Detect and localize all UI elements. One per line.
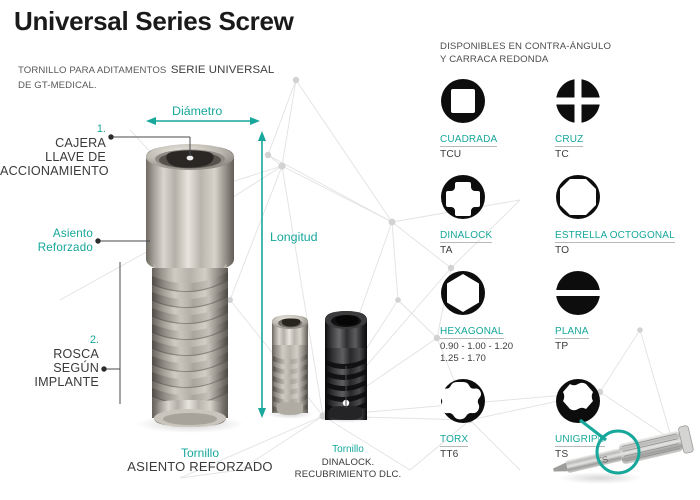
callout-cajera-line3: ACCIONAMIENTO	[0, 164, 106, 178]
poster-canvas: Universal Series Screw TORNILLO PARA ADI…	[0, 0, 700, 500]
caption-dinalock-line2: DINALOCK.	[288, 457, 408, 470]
callout-rosca-line1: ROSCA	[0, 347, 99, 361]
callout-asiento-line2: Reforzado	[0, 241, 93, 255]
callout-cajera: 1. CAJERA LLAVE DE ACCIONAMIENTO	[0, 122, 106, 178]
callout-cajera-line1: CAJERA	[0, 136, 106, 150]
caption-dinalock-line1: Tornillo	[288, 444, 408, 457]
length-label: Longitud	[270, 230, 318, 244]
callout-cajera-line2: LLAVE DE	[0, 150, 106, 164]
callout-asiento-reforzado: Asiento Reforzado	[0, 227, 93, 255]
callout-asiento-line1: Asiento	[0, 227, 93, 241]
caption-dinalock-line3: RECUBRIMIENTO DLC.	[288, 469, 408, 482]
callout-rosca-line3: IMPLANTE	[0, 375, 99, 389]
caption-main-line2: ASIENTO REFORZADO	[110, 460, 290, 474]
callout-cajera-number: 1.	[0, 122, 106, 136]
caption-dinalock-screw: Tornillo DINALOCK. RECUBRIMIENTO DLC.	[288, 444, 408, 482]
diameter-label: Diámetro	[172, 104, 222, 118]
callout-rosca-line2: SEGÚN	[0, 361, 99, 375]
caption-main-line1: Tornillo	[110, 446, 290, 460]
screwdriver-tool-illustration: TS	[0, 0, 700, 500]
caption-main-screw: Tornillo ASIENTO REFORZADO	[110, 446, 290, 474]
callout-rosca: 2. ROSCA SEGÚN IMPLANTE	[0, 333, 99, 389]
callout-rosca-number: 2.	[0, 333, 99, 347]
